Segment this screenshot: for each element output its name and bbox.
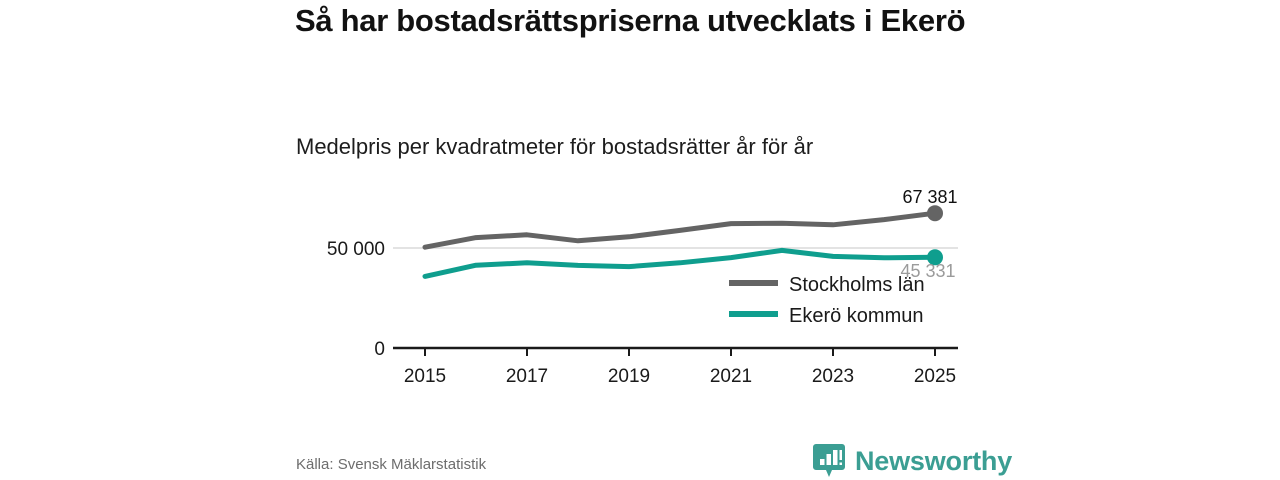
xtick-label-2023: 2023: [812, 366, 854, 387]
legend-label-stockholms-lan: Stockholms län: [789, 274, 925, 296]
ytick-label-0: 0: [374, 339, 385, 360]
xtick-label-2015: 2015: [404, 366, 446, 387]
line-chart: 50 000 0 2015 2017 2019 2021 2023 2025 4…: [0, 0, 1280, 480]
xtick-label-2019: 2019: [608, 366, 650, 387]
xtick-label-2017: 2017: [506, 366, 548, 387]
legend-label-ekero-kommun: Ekerö kommun: [789, 305, 924, 327]
series-line-ekero-kommun: [425, 250, 935, 276]
chart-bubble-icon: [812, 443, 846, 479]
logo-wordmark: Newsworthy: [855, 448, 1012, 475]
xtick-label-2025: 2025: [914, 366, 956, 387]
xtick-label-2021: 2021: [710, 366, 752, 387]
infographic-page: Så har bostadsrättspriserna utvecklats i…: [0, 0, 1280, 480]
ytick-label-50000: 50 000: [327, 239, 385, 260]
source-note: Källa: Svensk Mäklarstatistik: [296, 456, 486, 473]
series-endpoint-stockholms-lan: [927, 205, 943, 221]
value-label-stockholms-lan: 67 381: [902, 187, 957, 207]
series-line-stockholms-lan: [425, 213, 935, 247]
legend: Stockholms län Ekerö kommun: [729, 274, 925, 327]
newsworthy-logo[interactable]: Newsworthy: [812, 443, 1012, 479]
